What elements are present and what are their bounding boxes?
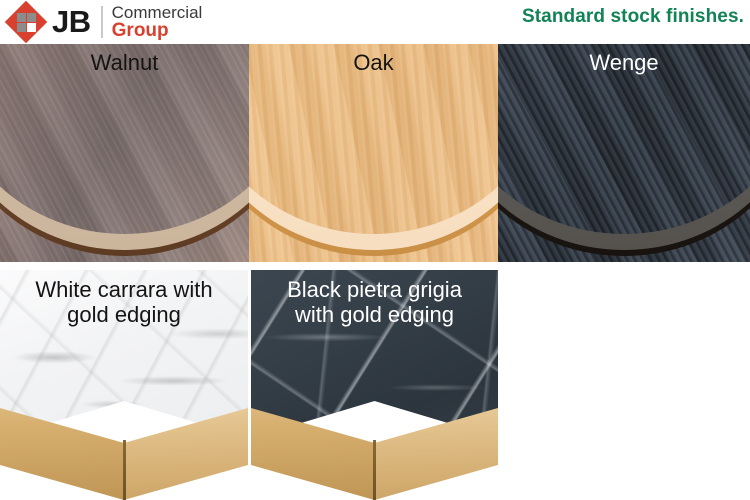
logo-word-commercial: Commercial bbox=[112, 4, 203, 21]
finish-swatch-walnut[interactable]: Walnut bbox=[0, 44, 249, 262]
page-title: Standard stock finishes. bbox=[522, 6, 744, 28]
wood-finishes-row: Walnut Oak Wenge bbox=[0, 44, 750, 262]
carrara-gold-edge-left bbox=[0, 408, 124, 500]
brand-logo[interactable]: JB Commercial Group bbox=[6, 2, 202, 42]
diamond-square-top-right bbox=[27, 13, 36, 22]
diamond-square-bottom-right bbox=[27, 23, 36, 32]
carrara-corner-seam bbox=[123, 440, 126, 500]
carrara-gold-edge-right bbox=[124, 408, 248, 500]
pietra-corner-seam bbox=[373, 440, 376, 500]
swatch-label-line-2: with gold edging bbox=[251, 303, 498, 328]
pietra-gold-edge-left bbox=[251, 408, 375, 500]
swatch-label-oak: Oak bbox=[249, 50, 498, 76]
logo-divider bbox=[101, 6, 103, 38]
swatch-label-line-1: White carrara with bbox=[0, 278, 248, 303]
swatch-label-wenge: Wenge bbox=[498, 50, 750, 76]
header-bar: JB Commercial Group Standard stock finis… bbox=[0, 0, 750, 44]
swatch-label-black-pietra-grigia: Black pietra grigia with gold edging bbox=[251, 278, 498, 327]
pietra-gold-edge-right bbox=[375, 408, 499, 500]
swatch-label-line-2: gold edging bbox=[0, 303, 248, 328]
logo-initials: JB bbox=[52, 6, 91, 37]
jb-diamond-logo-icon bbox=[6, 2, 46, 42]
finish-swatch-wenge[interactable]: Wenge bbox=[498, 44, 750, 262]
diamond-shape bbox=[5, 1, 47, 43]
diamond-square-bottom-left bbox=[17, 23, 26, 32]
finish-swatch-black-pietra-grigia[interactable]: Black pietra grigia with gold edging bbox=[251, 270, 498, 500]
finishes-poster: JB Commercial Group Standard stock finis… bbox=[0, 0, 750, 500]
finish-swatch-white-carrara[interactable]: White carrara with gold edging bbox=[0, 270, 248, 500]
stone-finishes-row: White carrara with gold edging Black pie… bbox=[0, 270, 750, 500]
logo-wordmark: Commercial Group bbox=[112, 4, 203, 41]
finish-swatch-oak[interactable]: Oak bbox=[249, 44, 498, 262]
logo-word-group: Group bbox=[112, 21, 203, 40]
swatch-label-line-1: Black pietra grigia bbox=[251, 278, 498, 303]
diamond-square-top-left bbox=[17, 13, 26, 22]
swatch-label-white-carrara: White carrara with gold edging bbox=[0, 278, 248, 327]
swatch-label-walnut: Walnut bbox=[0, 50, 249, 76]
